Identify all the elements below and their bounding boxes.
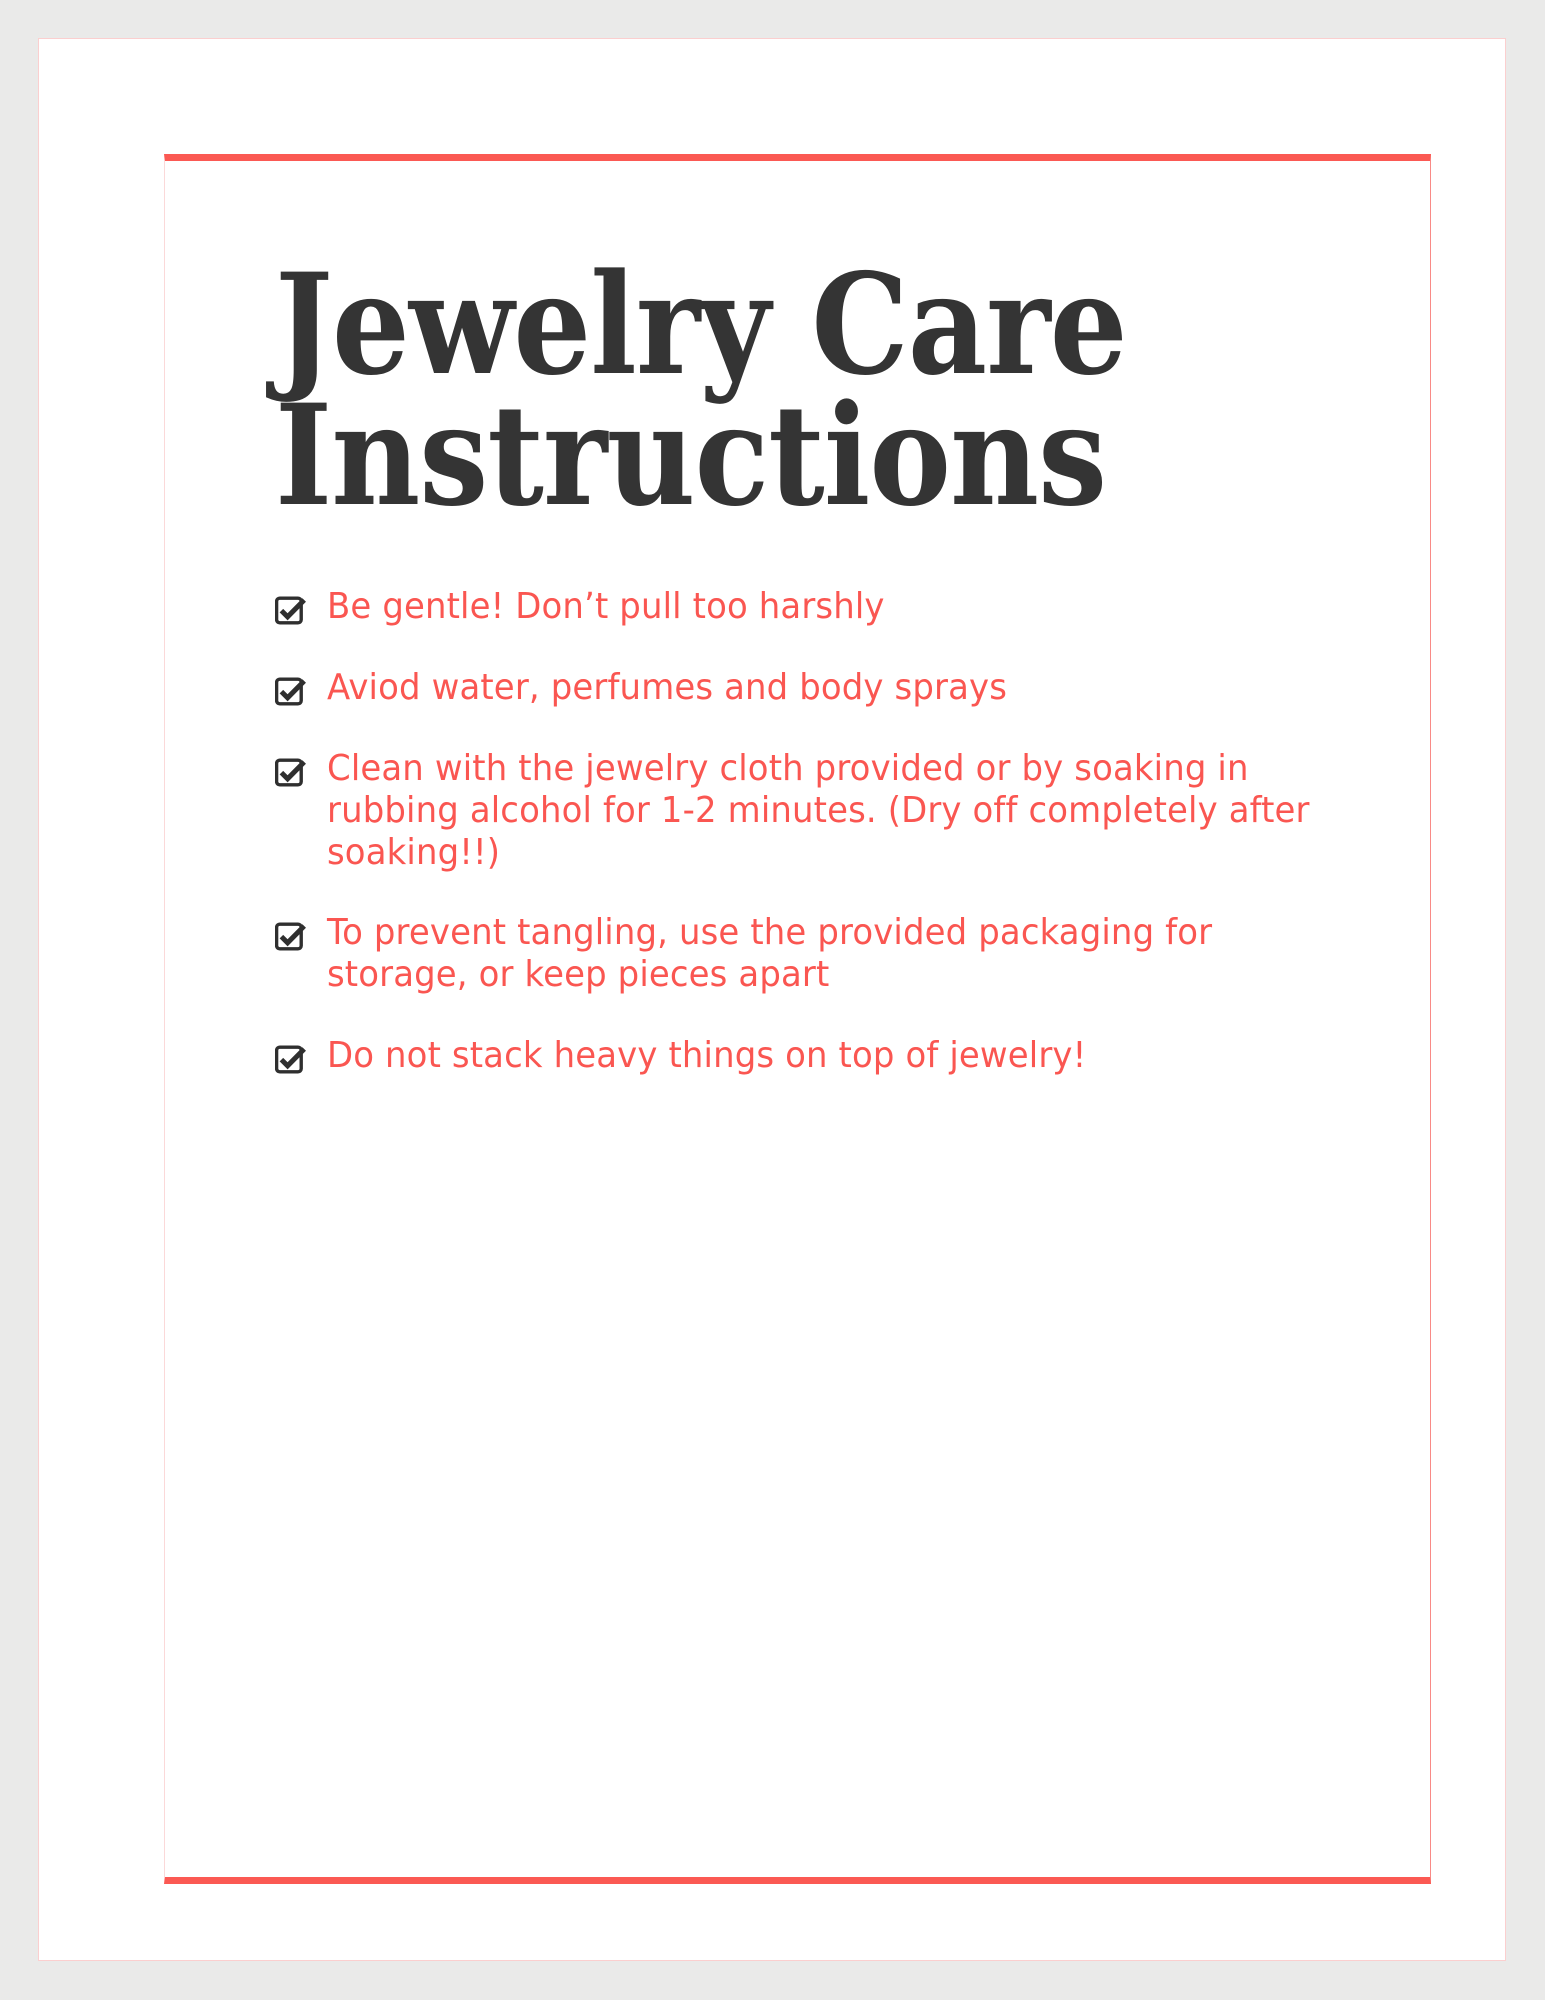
checked-checkbox-icon[interactable] [275, 757, 307, 789]
list-item[interactable]: Clean with the jewelry cloth provided or… [275, 748, 1385, 874]
checked-checkbox-icon[interactable] [275, 1044, 307, 1076]
bordered-card-frame: Jewelry Care Instructions Be gentle! Don… [164, 154, 1431, 1884]
list-item[interactable]: Aviod water, perfumes and body sprays [275, 667, 1385, 709]
list-item-label: Be gentle! Don’t pull too harshly [327, 586, 1337, 628]
list-item-label: Aviod water, perfumes and body sprays [327, 667, 1337, 709]
page-sheet: Jewelry Care Instructions Be gentle! Don… [38, 38, 1506, 1961]
care-instructions-checklist: Be gentle! Don’t pull too harshly Aviod … [275, 586, 1385, 1077]
list-item-label: To prevent tangling, use the provided pa… [327, 912, 1337, 996]
list-item-label: Clean with the jewelry cloth provided or… [327, 748, 1337, 874]
page-title-line-1: Jewelry Care [275, 259, 1155, 390]
page-title-line-2: Instructions [275, 390, 1155, 521]
list-item[interactable]: Do not stack heavy things on top of jewe… [275, 1035, 1385, 1077]
list-item[interactable]: Be gentle! Don’t pull too harshly [275, 586, 1385, 628]
list-item[interactable]: To prevent tangling, use the provided pa… [275, 912, 1385, 996]
checked-checkbox-icon[interactable] [275, 595, 307, 627]
checked-checkbox-icon[interactable] [275, 921, 307, 953]
list-item-label: Do not stack heavy things on top of jewe… [327, 1035, 1337, 1077]
checked-checkbox-icon[interactable] [275, 676, 307, 708]
page-title: Jewelry Care Instructions [275, 259, 1275, 520]
